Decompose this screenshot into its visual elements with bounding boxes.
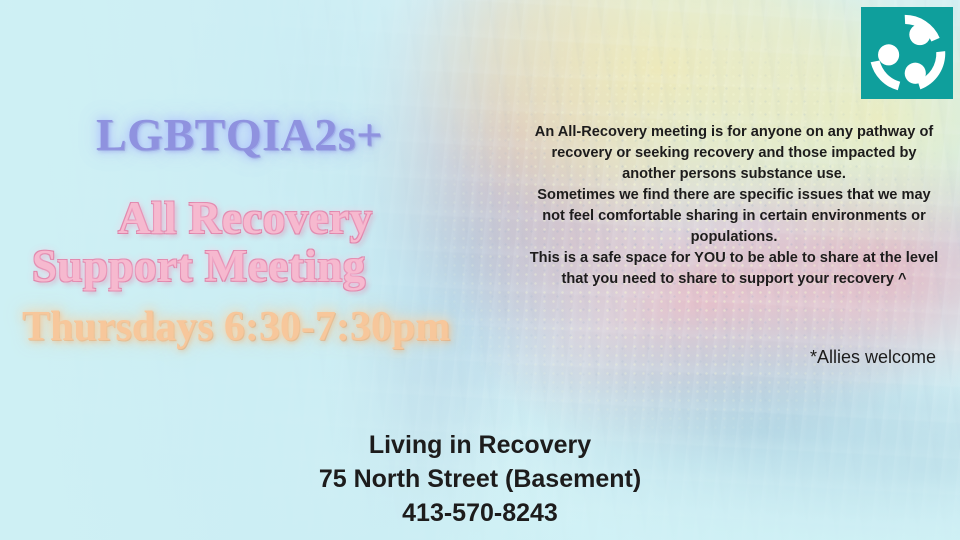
body-copy-block: An All-Recovery meeting is for anyone on… bbox=[524, 122, 944, 290]
footer-address: 75 North Street (Basement) bbox=[190, 462, 770, 496]
people-circle-icon bbox=[861, 7, 953, 99]
body-paragraph-2: Sometimes we find there are specific iss… bbox=[524, 185, 944, 248]
allies-welcome-note: *Allies welcome bbox=[524, 347, 936, 368]
headline-schedule: Thursdays 6:30-7:30pm bbox=[22, 306, 450, 348]
recovery-meeting-flyer: LGBTQIA2s+ All Recovery Support Meeting … bbox=[0, 0, 960, 540]
organization-logo bbox=[853, 0, 960, 105]
body-paragraph-1: An All-Recovery meeting is for anyone on… bbox=[524, 122, 944, 185]
body-paragraph-3: This is a safe space for YOU to be able … bbox=[524, 248, 944, 290]
headline-meeting-line-1: All Recovery bbox=[118, 196, 373, 241]
footer-contact-block: Living in Recovery 75 North Street (Base… bbox=[190, 428, 770, 530]
headline-meeting-line-2: Support Meeting bbox=[32, 244, 366, 289]
footer-organization: Living in Recovery bbox=[190, 428, 770, 462]
headline-identity: LGBTQIA2s+ bbox=[96, 112, 383, 158]
footer-phone: 413-570-8243 bbox=[190, 496, 770, 530]
